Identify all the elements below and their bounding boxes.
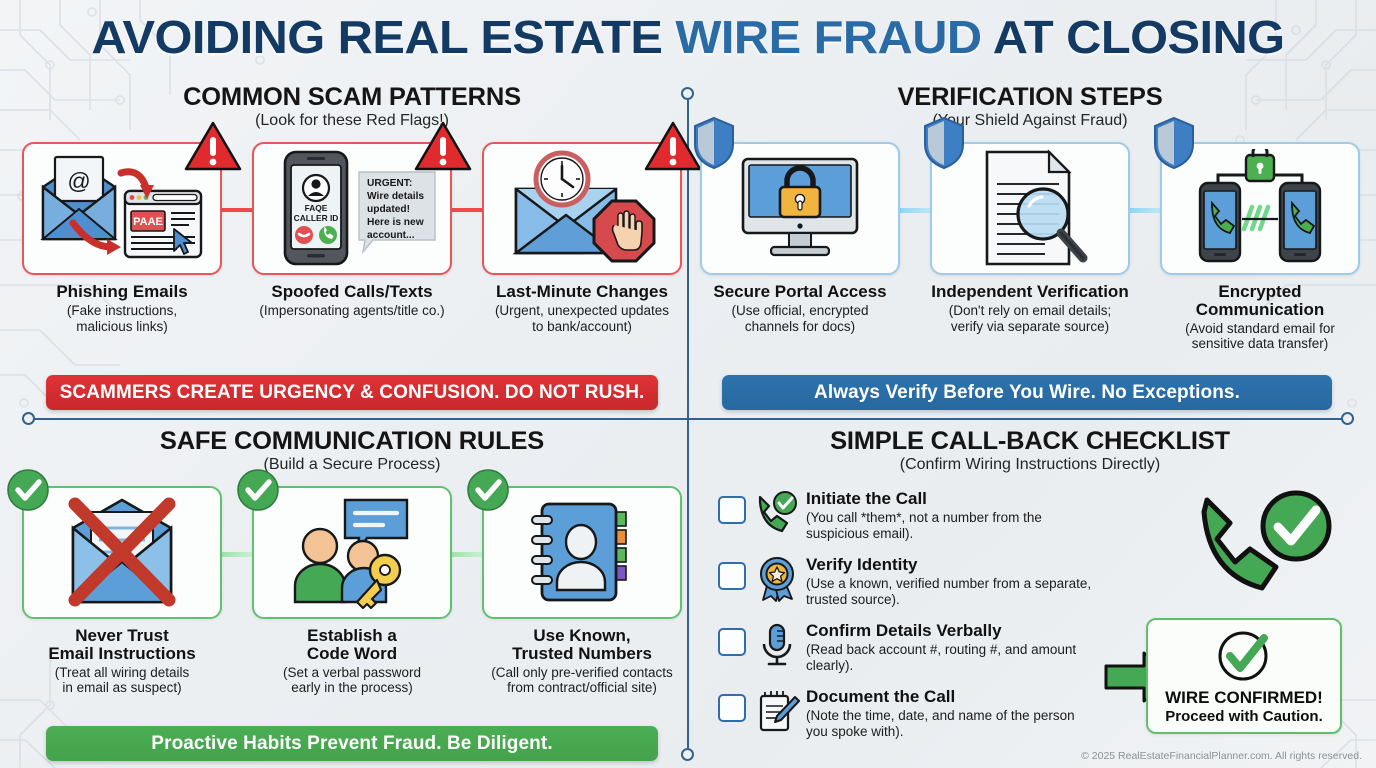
horizontal-divider	[28, 418, 1348, 420]
shield-icon	[922, 116, 966, 170]
warning-triangle-icon	[414, 120, 472, 172]
vertical-divider	[687, 96, 689, 752]
confirmed-check-circle-icon	[1214, 628, 1274, 686]
card-use-known-numbers[interactable]: Use Known,Trusted Numbers (Call only pre…	[482, 486, 682, 697]
card-box	[700, 142, 900, 275]
connector-line	[452, 552, 482, 557]
checklist-desc: (Use a known, verified number from a sep…	[806, 576, 1098, 608]
shield-icon	[692, 116, 736, 170]
title-accent: WIRE FRAUD	[675, 11, 981, 63]
green-check-icon	[466, 468, 510, 512]
svg-text:CALLER ID: CALLER ID	[294, 213, 339, 223]
card-label: Independent Verification	[930, 283, 1130, 301]
connector-line	[222, 552, 252, 557]
verification-steps-banner: Always Verify Before You Wire. No Except…	[722, 375, 1332, 410]
connector-line	[900, 208, 930, 213]
divider-node-bottom	[681, 748, 694, 761]
svg-text:FAQE: FAQE	[305, 203, 328, 213]
checklist-text: Initiate the Call (You call *them*, not …	[806, 490, 1098, 542]
svg-text:updated!: updated!	[367, 204, 410, 215]
card-label: Secure Portal Access	[700, 283, 900, 301]
card-label: Establish aCode Word	[252, 627, 452, 663]
card-label: Never TrustEmail Instructions	[22, 627, 222, 663]
card-encrypted-communication[interactable]: Encrypted Communication (Avoid standard …	[1160, 142, 1360, 353]
card-box	[482, 142, 682, 275]
checklist-items: Initiate the Call (You call *them*, not …	[718, 490, 1098, 754]
checkbox-confirm-details[interactable]	[718, 628, 746, 656]
svg-text:Here is new: Here is new	[367, 217, 424, 228]
card-desc: (Don't rely on email details;verify via …	[930, 303, 1130, 335]
checklist-title: Verify Identity	[806, 556, 1098, 575]
callback-checklist-heading: SIMPLE CALL-BACK CHECKLIST	[693, 428, 1366, 454]
card-desc: (Impersonating agents/title co.)	[252, 303, 452, 319]
checklist-title: Confirm Details Verbally	[806, 622, 1098, 641]
quadrant-safe-communication: SAFE COMMUNICATION RULES (Build a Secure…	[22, 428, 682, 762]
svg-text:PAAE: PAAE	[133, 216, 163, 228]
connector-line	[1130, 208, 1160, 213]
page-title: AVOIDING REAL ESTATE WIRE FRAUD AT CLOSI…	[0, 14, 1376, 60]
infographic-page: AVOIDING REAL ESTATE WIRE FRAUD AT CLOSI…	[0, 0, 1376, 768]
card-label: Spoofed Calls/Texts	[252, 283, 452, 301]
clock-envelope-stop-icon	[502, 149, 662, 267]
card-box	[930, 142, 1130, 275]
card-last-minute-changes[interactable]: Last-Minute Changes (Urgent, unexpected …	[482, 142, 682, 335]
checklist-title: Document the Call	[806, 688, 1098, 707]
card-desc: (Call only pre-verified contactsfrom con…	[482, 665, 682, 697]
checklist-title: Initiate the Call	[806, 490, 1098, 509]
checklist-text: Verify Identity (Use a known, verified n…	[806, 556, 1098, 608]
checklist-text: Document the Call (Note the time, date, …	[806, 688, 1098, 740]
wire-confirmed-panel: WIRE CONFIRMED! Proceed with Caution.	[1146, 618, 1342, 734]
card-box: FAQE CALLER ID URGENT: Wire details upda…	[252, 142, 452, 275]
checklist-text: Confirm Details Verbally (Read back acco…	[806, 622, 1098, 674]
verification-steps-heading: VERIFICATION STEPS	[693, 84, 1366, 110]
phishing-email-icon: @ PAAE	[37, 151, 207, 266]
quadrant-scam-patterns: COMMON SCAM PATTERNS (Look for these Red…	[22, 84, 682, 414]
wire-confirmed-title: WIRE CONFIRMED!	[1165, 688, 1323, 708]
verification-steps-subheading: (Your Shield Against Fraud)	[700, 112, 1360, 130]
checkbox-initiate-call[interactable]	[718, 496, 746, 524]
safe-communication-subheading: (Build a Secure Process)	[22, 456, 682, 474]
card-box	[22, 486, 222, 619]
safe-communication-cards: Never TrustEmail Instructions (Treat all…	[22, 486, 682, 697]
warning-triangle-icon	[184, 120, 242, 172]
green-check-icon	[236, 468, 280, 512]
title-part1: AVOIDING REAL ESTATE	[91, 11, 675, 63]
shield-icon	[1152, 116, 1196, 170]
card-independent-verification[interactable]: Independent Verification (Don't rely on …	[930, 142, 1130, 353]
checklist-desc: (Read back account #, routing #, and amo…	[806, 642, 1098, 674]
card-box	[1160, 142, 1360, 275]
card-label: Last-Minute Changes	[482, 283, 682, 301]
card-desc: (Avoid standard email forsensitive data …	[1160, 321, 1360, 353]
award-ribbon-icon	[754, 556, 800, 602]
checklist-desc: (You call *them*, not a number from the …	[806, 510, 1098, 542]
document-magnifier-icon	[965, 148, 1095, 268]
monitor-lock-icon	[735, 151, 865, 266]
big-green-phone-check-icon	[1192, 490, 1342, 615]
card-desc: (Urgent, unexpected updatesto bank/accou…	[482, 303, 682, 335]
quadrant-callback-checklist: SIMPLE CALL-BACK CHECKLIST (Confirm Wiri…	[700, 428, 1360, 762]
card-box	[482, 486, 682, 619]
green-check-icon	[6, 468, 50, 512]
safe-communication-heading: SAFE COMMUNICATION RULES	[15, 428, 688, 454]
notepad-pencil-icon	[754, 688, 800, 734]
card-label: Use Known,Trusted Numbers	[482, 627, 682, 663]
microphone-icon	[754, 622, 800, 668]
card-spoofed-calls[interactable]: FAQE CALLER ID URGENT: Wire details upda…	[252, 142, 452, 335]
scam-patterns-banner: SCAMMERS CREATE URGENCY & CONFUSION. DO …	[46, 375, 658, 410]
card-box	[252, 486, 452, 619]
svg-text:account...: account...	[367, 230, 415, 241]
card-secure-portal-access[interactable]: Secure Portal Access (Use official, encr…	[700, 142, 900, 353]
card-box: @ PAAE	[22, 142, 222, 275]
checklist-item[interactable]: Confirm Details Verbally (Read back acco…	[718, 622, 1098, 680]
checklist-item[interactable]: Verify Identity (Use a known, verified n…	[718, 556, 1098, 614]
copyright-notice: © 2025 RealEstateFinancialPlanner.com. A…	[1081, 750, 1362, 762]
card-establish-code-word[interactable]: Establish aCode Word (Set a verbal passw…	[252, 486, 452, 697]
card-desc: (Set a verbal passwordearly in the proce…	[252, 665, 452, 697]
wire-confirmed-subtitle: Proceed with Caution.	[1165, 708, 1323, 725]
scam-patterns-subheading: (Look for these Red Flags!)	[22, 112, 682, 130]
card-desc: (Treat all wiring detailsin email as sus…	[22, 665, 222, 697]
checklist-desc: (Note the time, date, and name of the pe…	[806, 708, 1098, 740]
card-never-trust-email[interactable]: Never TrustEmail Instructions (Treat all…	[22, 486, 222, 697]
people-key-chat-icon	[287, 494, 417, 610]
connector-line	[452, 208, 482, 212]
checkbox-document-call[interactable]	[718, 694, 746, 722]
encrypted-phones-icon	[1190, 149, 1330, 267]
phone-check-icon	[754, 490, 800, 536]
card-label: Phishing Emails	[22, 283, 222, 301]
card-desc: (Use official, encryptedchannels for doc…	[700, 303, 900, 335]
card-phishing-emails[interactable]: @ PAAE	[22, 142, 222, 335]
card-desc: (Fake instructions,malicious links)	[22, 303, 222, 335]
scam-patterns-cards: @ PAAE	[22, 142, 682, 335]
checklist-item[interactable]: Initiate the Call (You call *them*, not …	[718, 490, 1098, 548]
crossed-out-envelope-icon	[61, 494, 183, 610]
svg-text:Wire details: Wire details	[367, 191, 424, 202]
svg-text:URGENT:: URGENT:	[367, 178, 412, 189]
safe-communication-banner: Proactive Habits Prevent Fraud. Be Dilig…	[46, 726, 658, 761]
callback-checklist-subheading: (Confirm Wiring Instructions Directly)	[700, 456, 1360, 474]
verification-steps-cards: Secure Portal Access (Use official, encr…	[700, 142, 1360, 353]
checklist-item[interactable]: Document the Call (Note the time, date, …	[718, 688, 1098, 746]
checkbox-verify-identity[interactable]	[718, 562, 746, 590]
title-part2: AT CLOSING	[982, 11, 1285, 63]
address-book-icon	[524, 496, 640, 608]
connector-line	[222, 208, 252, 212]
card-label: Encrypted Communication	[1160, 283, 1360, 319]
svg-text:@: @	[67, 168, 90, 194]
quadrant-verification-steps: VERIFICATION STEPS (Your Shield Against …	[700, 84, 1360, 414]
scam-patterns-heading: COMMON SCAM PATTERNS	[15, 84, 688, 110]
